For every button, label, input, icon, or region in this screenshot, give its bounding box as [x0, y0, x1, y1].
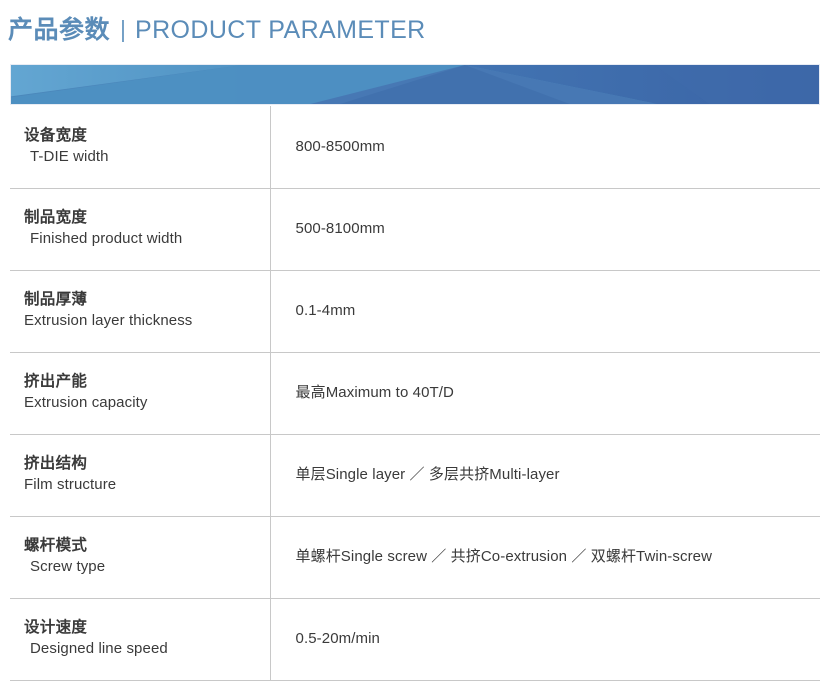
row-value-cell: 800-8500mm — [270, 106, 820, 188]
row-label-cell: 挤出产能 Extrusion capacity — [10, 352, 270, 434]
product-parameter-table: 设备宽度 T-DIE width 800-8500mm 制品宽度 Finishe… — [10, 106, 820, 681]
row-label-cell: 设计速度 Designed line speed — [10, 598, 270, 680]
row-label-english: Extrusion capacity — [24, 393, 270, 413]
row-label-chinese: 螺杆模式 — [24, 536, 270, 557]
table-row: 挤出产能 Extrusion capacity 最高Maximum to 40T… — [10, 352, 820, 434]
row-value-cell: 单螺杆Single screw ／ 共挤Co-extrusion ／ 双螺杆Tw… — [270, 516, 820, 598]
table-row: 设计速度 Designed line speed 0.5-20m/min — [10, 598, 820, 680]
row-label-english: Screw type — [24, 557, 270, 577]
row-label-cell: 螺杆模式 Screw type — [10, 516, 270, 598]
row-label-cell: 制品宽度 Finished product width — [10, 188, 270, 270]
row-value: 最高Maximum to 40T/D — [296, 383, 821, 403]
table-body: 设备宽度 T-DIE width 800-8500mm 制品宽度 Finishe… — [10, 106, 820, 680]
row-label-english: Designed line speed — [24, 639, 270, 659]
table-row: 设备宽度 T-DIE width 800-8500mm — [10, 106, 820, 188]
row-value-cell: 最高Maximum to 40T/D — [270, 352, 820, 434]
row-value-cell: 单层Single layer ／ 多层共挤Multi-layer — [270, 434, 820, 516]
row-label-chinese: 制品宽度 — [24, 208, 270, 229]
row-value: 单层Single layer ／ 多层共挤Multi-layer — [296, 465, 821, 485]
table-row: 制品厚薄 Extrusion layer thickness 0.1-4mm — [10, 270, 820, 352]
table-row: 螺杆模式 Screw type 单螺杆Single screw ／ 共挤Co-e… — [10, 516, 820, 598]
page-title-english: PRODUCT PARAMETER — [135, 18, 426, 43]
row-value: 0.1-4mm — [296, 301, 821, 321]
row-label-chinese: 设备宽度 — [24, 126, 270, 147]
title-separator: | — [120, 18, 126, 41]
page-title: 产品参数 | PRODUCT PARAMETER — [8, 8, 808, 52]
row-label-english: Film structure — [24, 475, 270, 495]
row-value: 500-8100mm — [296, 219, 821, 239]
row-label-english: Finished product width — [24, 229, 270, 249]
row-label-chinese: 制品厚薄 — [24, 290, 270, 311]
page-title-chinese: 产品参数 — [8, 18, 110, 43]
row-value: 0.5-20m/min — [296, 629, 821, 649]
decorative-banner — [10, 64, 820, 105]
product-parameter-page: 产品参数 | PRODUCT PARAMETER — [0, 0, 830, 697]
row-label-cell: 制品厚薄 Extrusion layer thickness — [10, 270, 270, 352]
banner-geometry — [11, 65, 819, 104]
row-label-cell: 设备宽度 T-DIE width — [10, 106, 270, 188]
row-label-chinese: 挤出产能 — [24, 372, 270, 393]
row-label-english: T-DIE width — [24, 147, 270, 167]
row-value: 单螺杆Single screw ／ 共挤Co-extrusion ／ 双螺杆Tw… — [296, 547, 821, 567]
row-label-cell: 挤出结构 Film structure — [10, 434, 270, 516]
table-row: 制品宽度 Finished product width 500-8100mm — [10, 188, 820, 270]
row-value-cell: 0.5-20m/min — [270, 598, 820, 680]
row-value: 800-8500mm — [296, 137, 821, 157]
row-label-chinese: 挤出结构 — [24, 454, 270, 475]
row-value-cell: 0.1-4mm — [270, 270, 820, 352]
table-row: 挤出结构 Film structure 单层Single layer ／ 多层共… — [10, 434, 820, 516]
row-label-chinese: 设计速度 — [24, 618, 270, 639]
row-label-english: Extrusion layer thickness — [24, 311, 270, 331]
row-value-cell: 500-8100mm — [270, 188, 820, 270]
